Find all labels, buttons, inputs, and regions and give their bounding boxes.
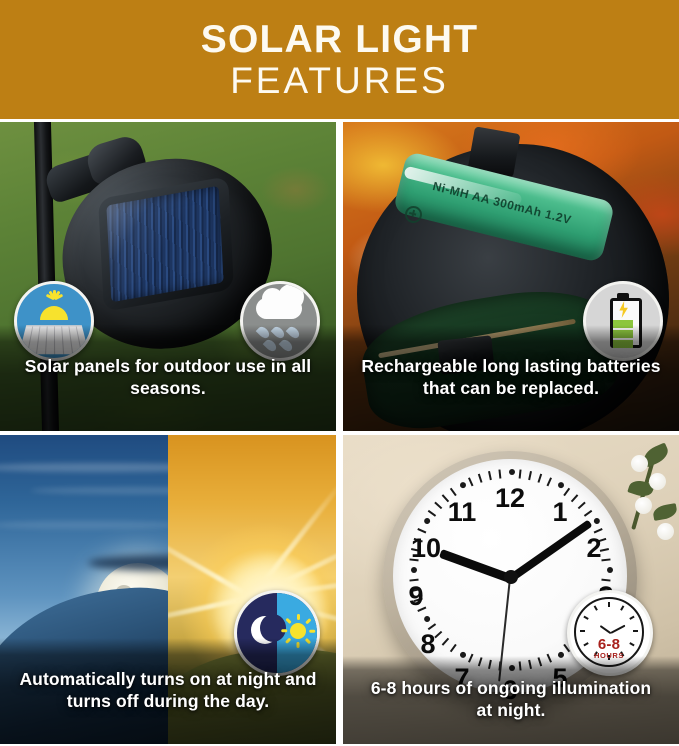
page-title-primary: SOLAR LIGHT [201, 20, 479, 60]
clock-numeral: 8 [411, 631, 445, 658]
clock-numeral: 11 [445, 499, 479, 526]
badge-hours-value: 6-8 [576, 637, 642, 652]
feature-panel-solar-panels: Solar panels for outdoor use in all seas… [0, 122, 336, 431]
panel-caption: Rechargeable long lasting batteries that… [343, 325, 679, 431]
panel-caption: Automatically turns on at night and turn… [0, 638, 336, 744]
clock-numeral: 9 [399, 583, 433, 610]
feature-panel-rechargeable-batteries: Ni-MH AA 300mAh 1.2V Rechargeable long l… [343, 122, 679, 431]
clock-numeral: 2 [577, 535, 611, 562]
feature-grid: Solar panels for outdoor use in all seas… [0, 119, 679, 746]
solar-cell-glare [106, 186, 223, 302]
page-header: SOLAR LIGHT FEATURES [0, 0, 679, 119]
clock-numeral: 12 [493, 485, 527, 512]
feature-panel-auto-day-night: Automatically turns on at night and turn… [0, 435, 336, 744]
clock-numeral: 1 [543, 499, 577, 526]
clock-center-hub [504, 570, 518, 584]
infographic-page: SOLAR LIGHT FEATURES [0, 0, 679, 746]
panel-caption: 6-8 hours of ongoing illumination at nig… [343, 656, 679, 744]
feature-panel-runtime-hours: 12 1 2 3 4 5 6 7 8 9 10 11 [343, 435, 679, 744]
panel-caption: Solar panels for outdoor use in all seas… [0, 325, 336, 431]
page-title-secondary: FEATURES [230, 62, 449, 101]
clock-numeral: 10 [409, 535, 443, 562]
